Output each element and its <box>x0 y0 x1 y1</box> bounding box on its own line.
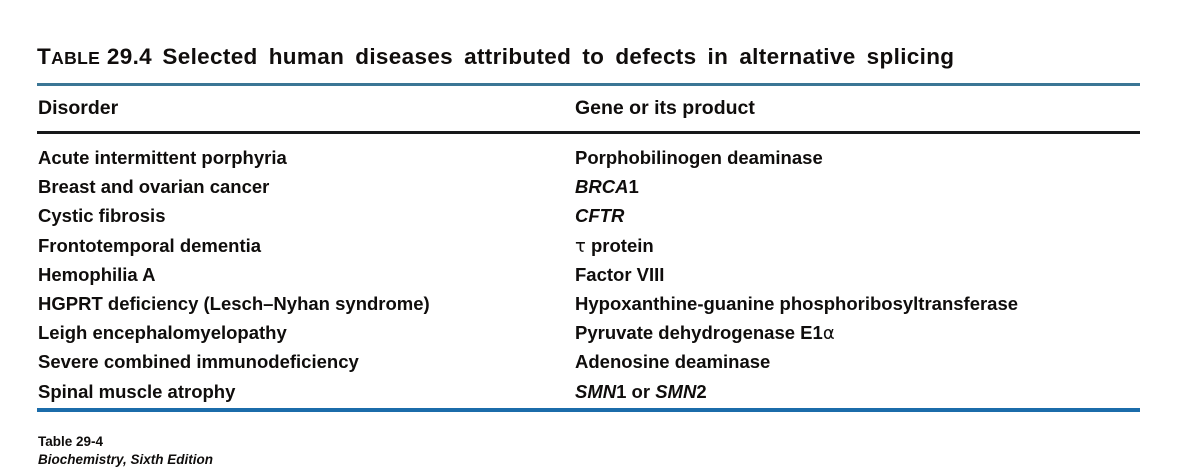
table-number: 29.4 <box>107 44 152 69</box>
cell-gene: BRCA1 <box>575 175 639 198</box>
caption-table-number: Table 29-4 <box>38 433 538 451</box>
table-row: Severe combined immunodeficiency Adenosi… <box>0 350 1184 379</box>
greek-alpha-symbol: α <box>823 323 835 344</box>
gene-plain: Hypoxanthine-guanine phosphoribosyltrans… <box>575 293 1018 314</box>
column-header-gene: Gene or its product <box>575 97 755 120</box>
table-row: Cystic fibrosis CFTR <box>0 204 1184 233</box>
gene-suffix: 1 or <box>616 381 655 402</box>
cell-disorder: Leigh encephalomyelopathy <box>38 321 287 344</box>
caption-source: Biochemistry, Sixth Edition <box>38 451 538 469</box>
table-label-t: T <box>37 44 51 69</box>
gene-plain: Factor VIII <box>575 264 664 285</box>
gene-symbol-2: SMN <box>655 381 696 402</box>
rule-header <box>37 131 1140 134</box>
table-row: Frontotemporal dementia τ protein <box>0 234 1184 263</box>
table-body: Acute intermittent porphyria Porphobilin… <box>0 146 1184 409</box>
greek-tau-symbol: τ <box>575 236 586 257</box>
gene-symbol: SMN <box>575 381 616 402</box>
gene-symbol: CFTR <box>575 205 624 226</box>
cell-gene: Hypoxanthine-guanine phosphoribosyltrans… <box>575 292 1018 315</box>
table-header-row: Disorder Gene or its product <box>0 97 1184 125</box>
table-row: HGPRT deficiency (Lesch–Nyhan syndrome) … <box>0 292 1184 321</box>
table-title: TABLE29.4Selected human diseases attribu… <box>37 44 1147 70</box>
cell-gene: Pyruvate dehydrogenase E1α <box>575 321 835 346</box>
cell-disorder: Hemophilia A <box>38 263 156 286</box>
table-figure: TABLE29.4Selected human diseases attribu… <box>0 0 1184 470</box>
table-row: Spinal muscle atrophy SMN1 or SMN2 <box>0 380 1184 409</box>
gene-plain: Pyruvate dehydrogenase E1 <box>575 322 823 343</box>
figure-caption: Table 29-4 Biochemistry, Sixth Edition <box>38 433 538 469</box>
cell-gene: Porphobilinogen deaminase <box>575 146 823 169</box>
gene-plain: Porphobilinogen deaminase <box>575 147 823 168</box>
cell-disorder: Cystic fibrosis <box>38 204 166 227</box>
table-row: Hemophilia A Factor VIII <box>0 263 1184 292</box>
rule-top <box>37 83 1140 86</box>
cell-disorder: Severe combined immunodeficiency <box>38 350 359 373</box>
cell-disorder: Breast and ovarian cancer <box>38 175 269 198</box>
gene-symbol: BRCA <box>575 176 628 197</box>
cell-disorder: HGPRT deficiency (Lesch–Nyhan syndrome) <box>38 292 430 315</box>
gene-suffix: protein <box>586 235 654 256</box>
cell-gene: CFTR <box>575 204 624 227</box>
cell-gene: SMN1 or SMN2 <box>575 380 707 403</box>
table-row: Breast and ovarian cancer BRCA1 <box>0 175 1184 204</box>
table-title-text: Selected human diseases attributed to de… <box>162 44 954 69</box>
cell-gene: Adenosine deaminase <box>575 350 770 373</box>
gene-suffix-2: 2 <box>696 381 706 402</box>
table-row: Leigh encephalomyelopathy Pyruvate dehyd… <box>0 321 1184 350</box>
table-label-able: ABLE <box>51 48 100 68</box>
rule-bottom <box>37 408 1140 412</box>
table-row: Acute intermittent porphyria Porphobilin… <box>0 146 1184 175</box>
gene-suffix: 1 <box>628 176 638 197</box>
cell-gene: Factor VIII <box>575 263 664 286</box>
column-header-disorder: Disorder <box>38 97 118 120</box>
gene-plain: Adenosine deaminase <box>575 351 770 372</box>
cell-disorder: Frontotemporal dementia <box>38 234 261 257</box>
cell-disorder: Acute intermittent porphyria <box>38 146 287 169</box>
cell-disorder: Spinal muscle atrophy <box>38 380 235 403</box>
cell-gene: τ protein <box>575 234 654 259</box>
